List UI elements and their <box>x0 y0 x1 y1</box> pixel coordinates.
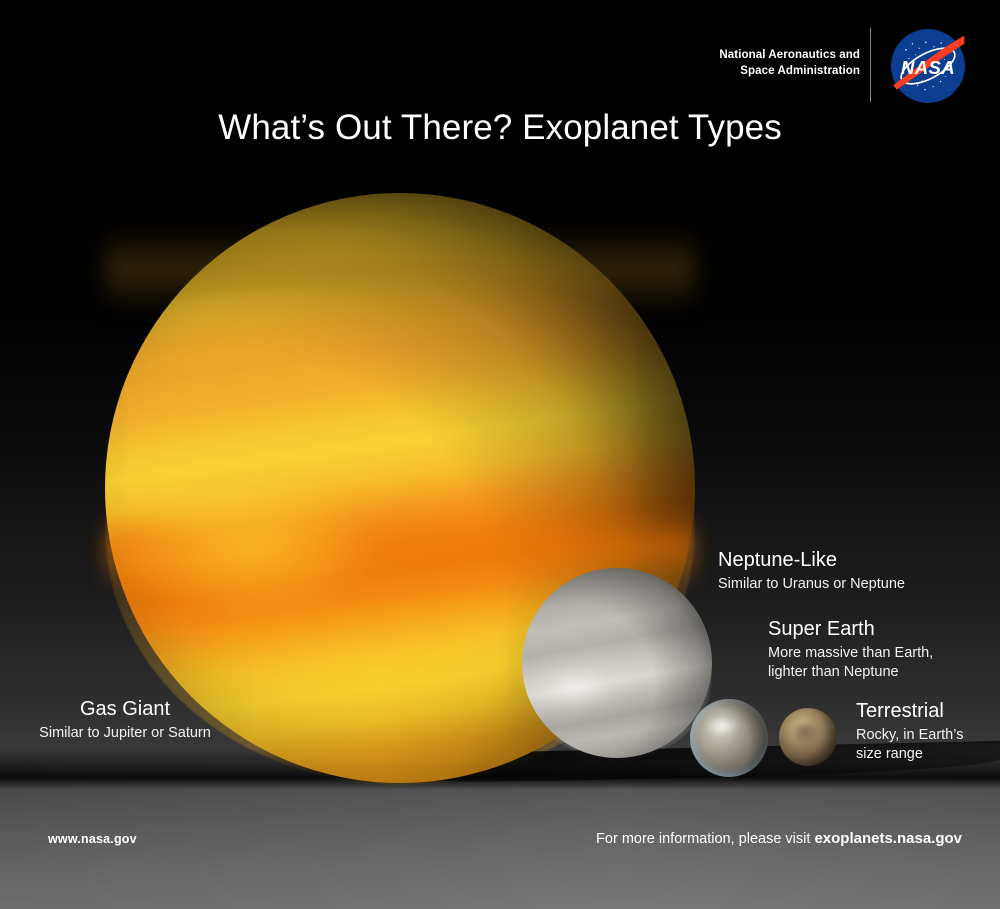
gas-giant-bright-spot <box>117 476 388 618</box>
nasa-meatball-logo: NASA <box>891 29 965 103</box>
super-earth-desc: More massive than Earth, lighter than Ne… <box>768 644 933 682</box>
super-earth-atmosphere-rim <box>690 699 768 777</box>
footer-more-info-prefix: For more information, please visit <box>596 831 810 847</box>
gas-giant-desc: Similar to Jupiter or Saturn <box>0 724 250 743</box>
planet-neptune-like <box>522 568 712 758</box>
exoplanet-types-poster: National Aeronautics and Space Administr… <box>0 0 1000 909</box>
label-neptune-like: Neptune-Like Similar to Uranus or Neptun… <box>718 549 905 594</box>
planet-terrestrial <box>779 708 837 766</box>
neptune-like-desc: Similar to Uranus or Neptune <box>718 575 905 594</box>
gas-giant-name: Gas Giant <box>0 698 250 721</box>
footer-exoplanets-url[interactable]: exoplanets.nasa.gov <box>814 830 962 847</box>
label-gas-giant: Gas Giant Similar to Jupiter or Saturn <box>0 698 250 743</box>
footer-more-info: For more information, please visit exopl… <box>596 830 962 847</box>
nasa-wordmark: National Aeronautics and Space Administr… <box>640 48 860 79</box>
agency-line-1: National Aeronautics and <box>640 48 860 64</box>
terrestrial-desc-line-2: size range <box>856 745 963 764</box>
label-super-earth: Super Earth More massive than Earth, lig… <box>768 618 933 682</box>
gas-giant-dark-band <box>105 228 695 311</box>
super-earth-desc-line-1: More massive than Earth, <box>768 644 933 663</box>
label-terrestrial: Terrestrial Rocky, in Earth’s size range <box>856 700 963 764</box>
footer-nasa-url[interactable]: www.nasa.gov <box>48 832 137 846</box>
terrestrial-landmass <box>794 723 820 746</box>
super-earth-desc-line-2: lighter than Neptune <box>768 663 933 682</box>
nasa-logo-text: NASA <box>901 57 955 78</box>
header-divider <box>870 28 871 102</box>
terrestrial-desc-line-1: Rocky, in Earth’s <box>856 726 963 745</box>
terrestrial-name: Terrestrial <box>856 700 963 723</box>
page-title: What’s Out There? Exoplanet Types <box>0 108 1000 148</box>
agency-line-2: Space Administration <box>640 64 860 80</box>
planet-super-earth <box>690 699 768 777</box>
super-earth-name: Super Earth <box>768 618 933 641</box>
neptune-like-name: Neptune-Like <box>718 549 905 572</box>
terrestrial-desc: Rocky, in Earth’s size range <box>856 726 963 764</box>
neptune-like-highlight <box>537 667 617 709</box>
